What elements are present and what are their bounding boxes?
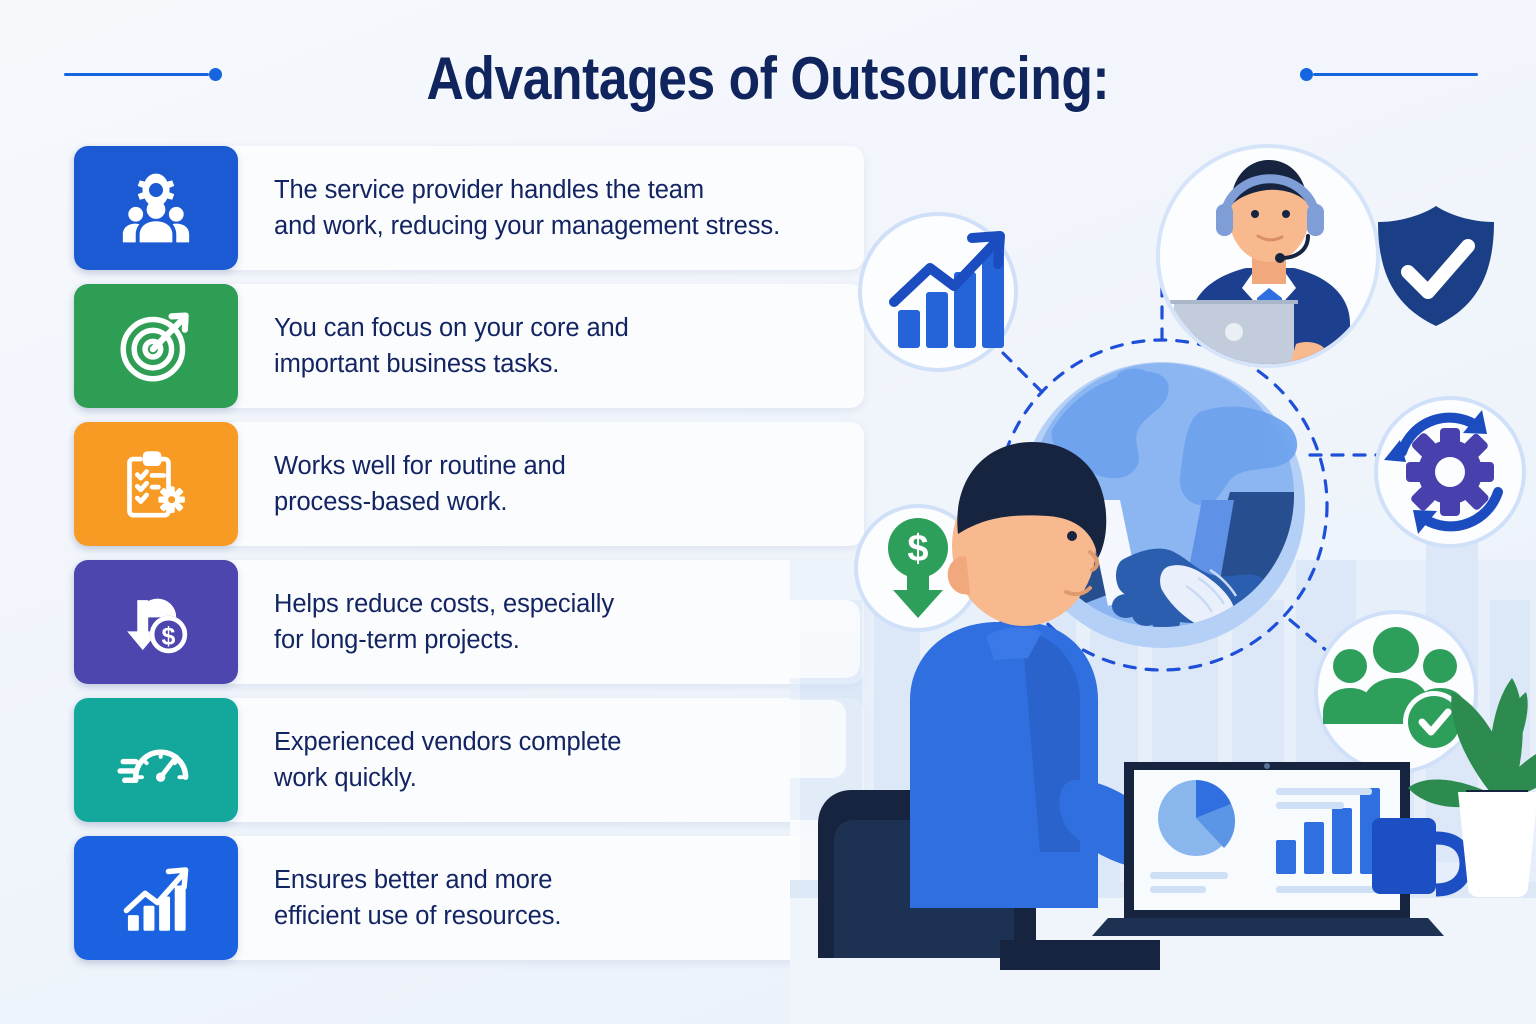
target-arrow-icon: [117, 307, 195, 385]
benefit-icon-tile: [74, 146, 238, 270]
benefit-icon-tile: $: [74, 560, 238, 684]
growth-chart-icon: [117, 859, 195, 937]
benefit-text: You can focus on your core and important…: [238, 284, 864, 408]
benefit-icon-tile: [74, 836, 238, 960]
security-shield-icon: [1378, 206, 1494, 326]
cost-down-icon: $: [117, 583, 195, 661]
svg-text:$: $: [162, 623, 176, 651]
benefit-line-1: The service provider handles the team: [274, 172, 838, 208]
svg-text:$: $: [907, 528, 928, 570]
benefit-text: Works well for routine and process-based…: [238, 422, 864, 546]
growth-chart-node: [860, 214, 1016, 370]
infographic-canvas: Advantages of Outsourcing:: [0, 0, 1536, 1024]
benefit-line-2: and work, reducing your management stres…: [274, 208, 838, 244]
benefit-line-1: Works well for routine and: [274, 448, 838, 484]
benefit-item[interactable]: The service provider handles the team an…: [74, 146, 864, 270]
outsourcing-illustration: $: [790, 0, 1536, 1024]
benefit-icon-tile: [74, 284, 238, 408]
benefit-list: The service provider handles the team an…: [74, 146, 864, 974]
benefit-item[interactable]: Ensures better and more efficient use of…: [74, 836, 864, 960]
benefit-line-1: Experienced vendors complete: [274, 724, 838, 760]
benefit-line-1: Ensures better and more: [274, 862, 838, 898]
benefit-line-2: efficient use of resources.: [274, 898, 838, 934]
benefit-icon-tile: [74, 422, 238, 546]
process-sync-node: [1376, 398, 1524, 546]
benefit-line-2: important business tasks.: [274, 346, 838, 382]
speedometer-icon: [117, 721, 195, 799]
benefit-line-2: for long-term projects.: [274, 622, 838, 658]
benefit-line-1: Helps reduce costs, especially: [274, 586, 838, 622]
benefit-item[interactable]: Experienced vendors complete work quickl…: [74, 698, 864, 822]
benefit-line-1: You can focus on your core and: [274, 310, 838, 346]
benefit-line-2: process-based work.: [274, 484, 838, 520]
support-agent-node: [1152, 146, 1494, 380]
benefit-item[interactable]: You can focus on your core and important…: [74, 284, 864, 408]
benefit-line-2: work quickly.: [274, 760, 838, 796]
benefit-text: The service provider handles the team an…: [238, 146, 864, 270]
benefit-text: Helps reduce costs, especially for long-…: [238, 560, 864, 684]
benefit-item[interactable]: $ Helps reduce costs, especially for lon…: [74, 560, 864, 684]
benefit-item[interactable]: Works well for routine and process-based…: [74, 422, 864, 546]
benefit-text: Experienced vendors complete work quickl…: [238, 698, 864, 822]
benefit-text: Ensures better and more efficient use of…: [238, 836, 864, 960]
checklist-gear-icon: [117, 445, 195, 523]
benefit-icon-tile: [74, 698, 238, 822]
team-gear-icon: [117, 169, 195, 247]
